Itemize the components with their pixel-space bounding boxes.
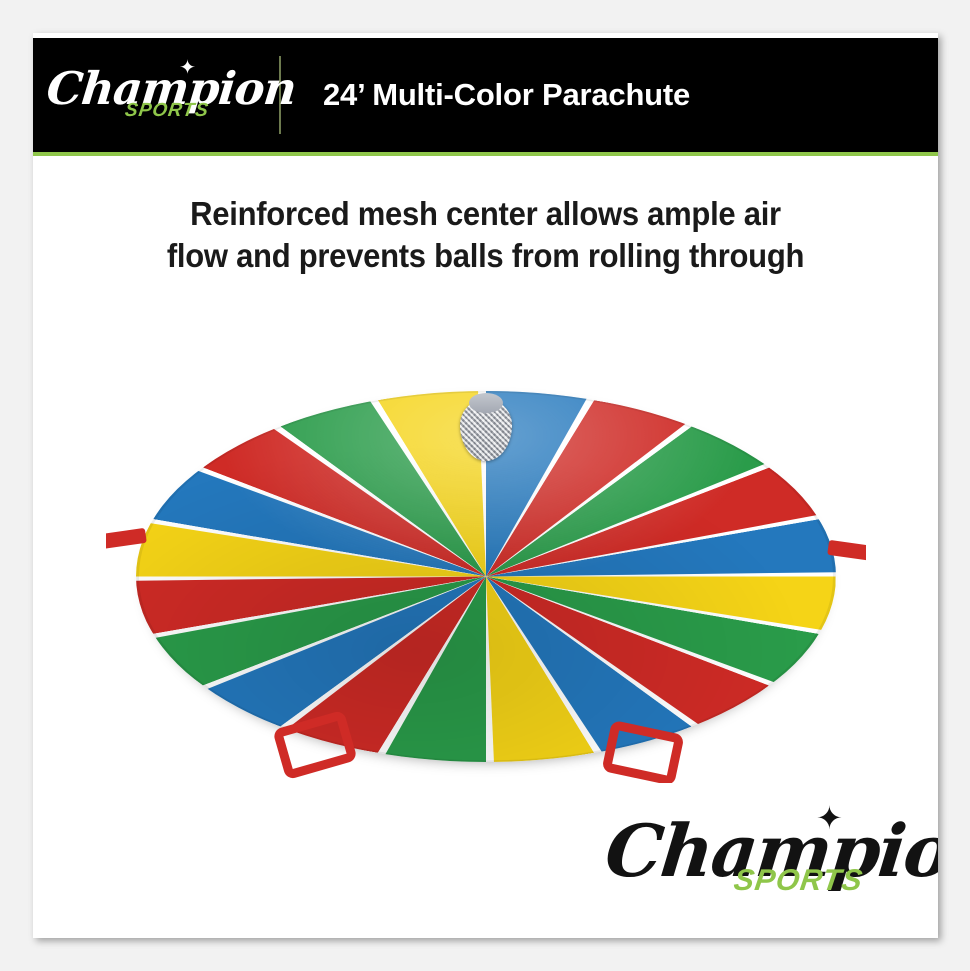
page-background: Champion ✦ SPORTS 24’ Multi-Color Parach… xyxy=(0,0,970,971)
parachute-center-cap xyxy=(469,393,503,413)
star-icon: ✦ xyxy=(816,802,843,834)
footer-brand-logo: Champion ✦ SPORTS xyxy=(606,806,906,902)
footer-brand-sports-text: SPORTS xyxy=(732,864,866,898)
product-info-card: Champion ✦ SPORTS 24’ Multi-Color Parach… xyxy=(33,33,938,938)
header-bar: Champion ✦ SPORTS 24’ Multi-Color Parach… xyxy=(33,38,938,152)
product-image xyxy=(33,363,938,793)
headline-line-1: Reinforced mesh center allows ample air xyxy=(190,195,781,232)
page-title: 24’ Multi-Color Parachute xyxy=(323,77,690,113)
parachute-illustration xyxy=(106,363,866,783)
feature-headline: Reinforced mesh center allows ample air … xyxy=(60,193,911,277)
headline-line-2: flow and prevents balls from rolling thr… xyxy=(60,235,911,277)
header-accent-line xyxy=(33,152,938,156)
star-icon: ✦ xyxy=(179,60,196,77)
brand-sports-text: SPORTS xyxy=(123,100,210,122)
header-brand-logo: Champion ✦ SPORTS xyxy=(33,38,251,152)
